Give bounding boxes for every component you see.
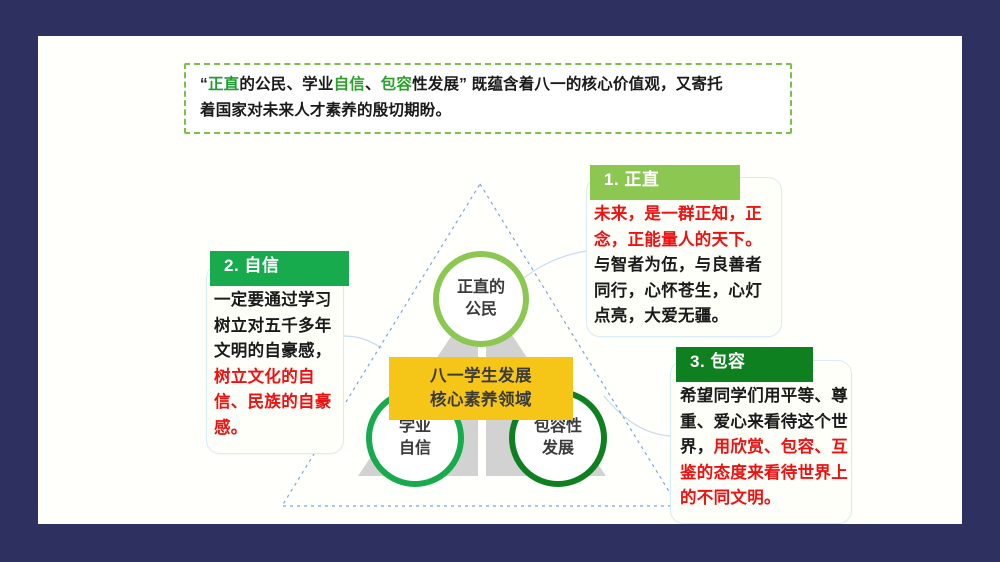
callout-heading-zixin: 2. 自信 [210,251,349,286]
callout-1-red-text: 未来，是一群正知，正念，正能量人的天下。 [594,205,762,249]
slide-canvas: “正直的公民、学业自信、包容性发展” 既蕴含着八一的核心价值观，又寄托 着国家对… [38,36,962,524]
callout-heading-zhengzhi: 1. 正直 [590,165,740,200]
header-note-line-2: 着国家对未来人才素养的殷切期盼。 [200,98,778,124]
header-keyword-zhengzhi: 正直 [208,76,239,93]
node-circle-zhengzhi[interactable]: 正直的 公民 [433,251,529,347]
node-right-line-2: 发展 [542,438,574,460]
callout-body-zhengzhi: 未来，是一群正知，正念，正能量人的天下。与智者为伍，与良善者同行，心怀苍生，心灯… [594,202,776,330]
callout-body-baorong: 希望同学们用平等、尊重、爱心来看待这个世界，用欣赏、包容、互鉴的态度来看待世界上… [680,384,852,512]
center-label-line-2: 核心素养领域 [393,388,569,412]
node-left-line-2: 自信 [399,438,431,460]
header-text-1: 的公民、学业 [239,76,333,93]
header-note: “正直的公民、学业自信、包容性发展” 既蕴含着八一的核心价值观，又寄托 着国家对… [184,63,792,134]
center-label-core-competency: 八一学生发展 核心素养领域 [389,357,573,420]
node-top-line-2: 公民 [465,299,497,321]
center-label-line-1: 八一学生发展 [393,364,569,388]
callout-2-black-text: 一定要通过学习树立对五千多年文明的自豪感， [214,291,332,360]
header-note-line-1: “正直的公民、学业自信、包容性发展” 既蕴含着八一的核心价值观，又寄托 [200,72,778,98]
callout-body-zixin: 一定要通过学习树立对五千多年文明的自豪感，树立文化的自信、民族的自豪感。 [214,288,340,441]
node-top-line-1: 正直的 [457,277,505,299]
callout-2-red-text: 树立文化的自信、民族的自豪感。 [214,368,332,437]
slide-root: “正直的公民、学业自信、包容性发展” 既蕴含着八一的核心价值观，又寄托 着国家对… [0,0,1000,562]
callout-1-black-text: 与智者为伍，与良善者同行，心怀苍生，心灯点亮，大爱无疆。 [594,256,762,325]
header-quote-open: “ [200,76,208,93]
header-text-2: 、 [365,76,381,93]
header-keyword-zixin: 自信 [334,76,365,93]
header-keyword-baorong: 包容 [381,76,412,93]
header-text-3: 性发展” 既蕴含着八一的核心价值观，又寄托 [412,76,723,93]
callout-heading-baorong: 3. 包容 [676,347,813,382]
